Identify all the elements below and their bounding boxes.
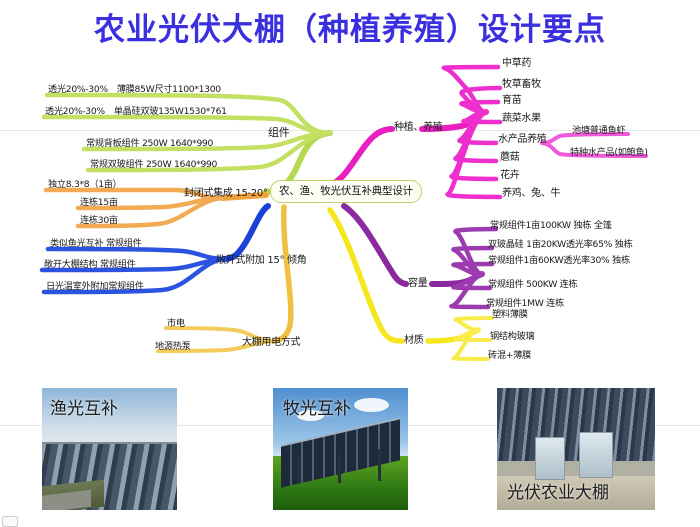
photo3-caption: 光伏农业大棚 <box>507 478 609 503</box>
node-planting-2[interactable]: 育苗 <box>502 95 521 106</box>
photo2-caption: 牧光互补 <box>283 394 351 419</box>
photo2-support-leg <box>378 449 381 481</box>
node-closed-integration-1[interactable]: 连栋15亩 <box>80 197 118 208</box>
node-material-0[interactable]: 塑料薄膜 <box>492 309 528 320</box>
photo-pv-greenhouse: 光伏农业大棚 <box>497 388 655 510</box>
photo3-pv-field <box>497 388 655 461</box>
branch-label-components[interactable]: 组件 <box>268 127 289 138</box>
page-corner-artifact <box>2 516 18 527</box>
branch-label-material[interactable]: 材质 <box>404 335 423 346</box>
node-components-2[interactable]: 常规背板组件 250W 1640*990 <box>86 138 213 149</box>
node-open-add-on-0[interactable]: 类似鱼光互补 常规组件 <box>50 238 142 249</box>
photo2-support-leg <box>297 456 300 483</box>
node-aquaculture-1[interactable]: 特种水产品(如鲍鱼) <box>570 147 648 158</box>
node-open-add-on-1[interactable]: 敞开大棚结构 常规组件 <box>44 259 136 270</box>
node-components-3[interactable]: 常规双玻组件 250W 1640*990 <box>90 159 217 170</box>
branch-label-planting-breeding[interactable]: 种植、养殖 <box>394 122 443 133</box>
node-capacity-0[interactable]: 常规组件1亩100KW 独栋 全篷 <box>490 220 612 231</box>
node-capacity-1[interactable]: 双玻晶硅 1亩20KW透光率65% 独栋 <box>488 239 632 250</box>
node-power-supply-1[interactable]: 地源热泵 <box>155 341 191 352</box>
node-aquaculture-0[interactable]: 池塘普通鱼虾 <box>572 125 625 136</box>
node-capacity-4[interactable]: 常规组件1MW 连栋 <box>486 298 564 309</box>
node-material-2[interactable]: 砖混+薄膜 <box>488 350 531 361</box>
photo2-support-leg <box>338 454 341 483</box>
node-closed-integration-2[interactable]: 连栋30亩 <box>80 215 118 226</box>
center-node[interactable]: 农、渔、牧光伏互补典型设计 <box>270 180 422 203</box>
center-node-label: 农、渔、牧光伏互补典型设计 <box>271 181 421 202</box>
photo1-caption: 渔光互补 <box>50 394 118 419</box>
node-planting-6[interactable]: 花卉 <box>500 170 519 181</box>
node-capacity-2[interactable]: 常规组件1亩60KW透光率30% 独栋 <box>488 255 630 266</box>
node-planting-1[interactable]: 牧草畜牧 <box>502 79 541 90</box>
node-open-add-on-2[interactable]: 日光温室外附加常规组件 <box>46 281 144 292</box>
node-planting-4[interactable]: 水产品养殖 <box>498 134 547 145</box>
branch-label-open-add-on[interactable]: 敞开式附加 15° 倾角 <box>216 255 306 266</box>
node-material-1[interactable]: 钢结构玻璃 <box>490 331 534 342</box>
node-planting-0[interactable]: 中草药 <box>502 58 531 69</box>
node-capacity-3[interactable]: 常规组件 500KW 连栋 <box>488 279 577 290</box>
mindmap-canvas: 农业光伏大棚（种植养殖）设计要点 <box>0 0 700 525</box>
photo-fishery-pv: 渔光互补 <box>42 388 177 510</box>
branch-label-power-supply[interactable]: 大棚用电方式 <box>242 337 300 348</box>
photo-livestock-pv: 牧光互补 <box>273 388 408 510</box>
branch-label-capacity[interactable]: 容量 <box>408 278 427 289</box>
node-closed-integration-0[interactable]: 独立8.3*8（1亩） <box>48 179 122 190</box>
node-components-0[interactable]: 透光20%-30% 薄膜85W尺寸1100*1300 <box>48 84 221 95</box>
node-planting-3[interactable]: 蔬菜水果 <box>502 113 541 124</box>
node-planting-7[interactable]: 养鸡、兔、牛 <box>502 188 560 199</box>
node-power-supply-0[interactable]: 市电 <box>167 318 185 329</box>
node-planting-5[interactable]: 蘑菇 <box>500 152 519 163</box>
photo3-greenhouse <box>579 432 613 478</box>
branch-label-closed-integration[interactable]: 封闭式集成 15-20° <box>184 188 268 199</box>
photo3-greenhouse <box>535 437 565 480</box>
node-components-1[interactable]: 透光20%-30% 单晶硅双玻135W1530*761 <box>45 106 227 117</box>
